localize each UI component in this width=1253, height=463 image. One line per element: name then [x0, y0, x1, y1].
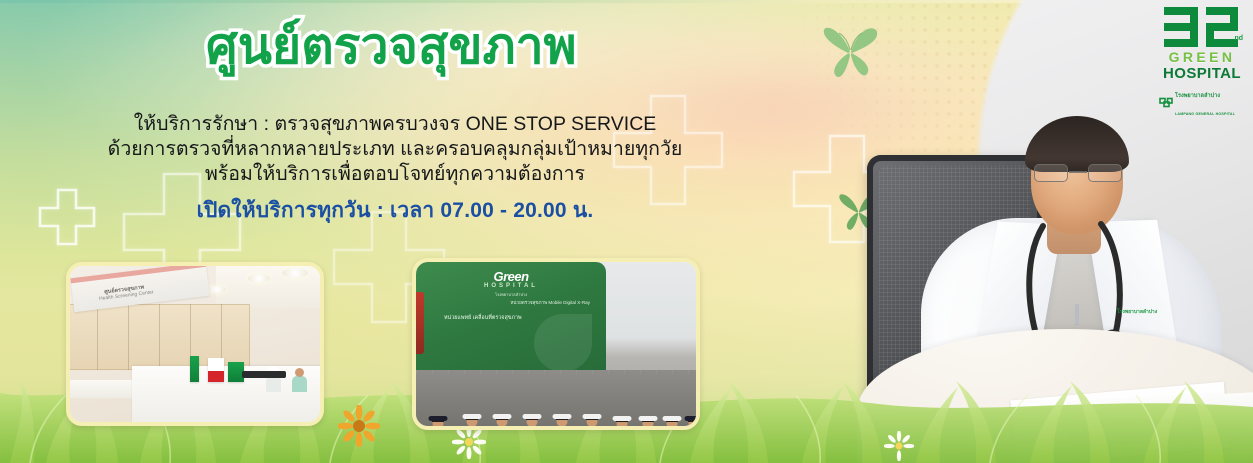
medical-staff-team-photo: Green HOSPITAL โรงพยาบาลลำปาง หน่วยแพทย์… [412, 258, 700, 430]
logo-32nd-mark: nd [1159, 4, 1245, 50]
bus-logo-word: Green [472, 270, 550, 283]
logo-word-green: GREEN [1159, 50, 1245, 65]
body-copy: ให้บริการรักษา : ตรวจสุขภาพครบวงจร ONE S… [0, 112, 790, 227]
person-shoes [429, 416, 448, 421]
white-daisy-flower-icon [884, 431, 914, 461]
mobile-health-bus: Green HOSPITAL โรงพยาบาลลำปาง หน่วยแพทย์… [416, 262, 606, 374]
monitor-stand [242, 371, 286, 378]
ceiling-light [282, 268, 308, 278]
copy-line-3: พร้อมให้บริการเพื่อตอบโจทย์ทุกความต้องกา… [0, 162, 790, 187]
person-shoes [613, 416, 632, 421]
bus-thai-text-right: หน่วยตรวจสุขภาพ Mobile Digital X-Ray [510, 300, 590, 306]
bus-swirl-graphic [534, 314, 592, 372]
health-screening-center-banner: โรงพยาบาลลำปาง [0, 0, 1253, 463]
health-screening-center-reception-photo: ศูนย์ตรวจสุขภาพ Health Screening Center [66, 262, 324, 426]
person-shoes [463, 414, 482, 419]
person-shoes [583, 414, 602, 419]
eyeglasses [1033, 164, 1123, 182]
logo-sub-lockup: โรงพยาบาลลำปาง LAMPANG GENERAL HOSPITAL [1159, 84, 1245, 120]
interlocking-squares-mark-icon [1159, 96, 1173, 108]
bus-red-stripe [416, 292, 424, 354]
page-title: ศูนย์ตรวจสุขภาพ [206, 16, 577, 76]
person-shoes [493, 414, 512, 419]
staff-body [266, 376, 281, 392]
eyeglass-bridge [1069, 171, 1087, 173]
logo-sub-text: โรงพยาบาลลำปาง LAMPANG GENERAL HOSPITAL [1175, 84, 1245, 120]
team-photo-content: Green HOSPITAL โรงพยาบาลลำปาง หน่วยแพทย์… [416, 262, 696, 426]
bus-logo-org: โรงพยาบาลลำปาง [472, 291, 550, 298]
ceiling-light [248, 274, 270, 283]
no-smoking-standee [208, 358, 224, 382]
staff-body [292, 376, 307, 392]
bus-thai-text-left: หน่วยแพทย์ เคลื่อนที่ตรวจสุขภาพ [444, 314, 522, 322]
copy-line-1: ให้บริการรักษา : ตรวจสุขภาพครบวงจร ONE S… [0, 112, 790, 137]
person-shoes [639, 416, 658, 421]
copy-line-2: ด้วยการตรวจที่หลากหลายประเภท และครอบคลุม… [0, 137, 790, 162]
person-shoes [685, 416, 697, 421]
coat-badge-text: โรงพยาบาลลำปาง [1117, 308, 1169, 316]
reception-staff [292, 368, 307, 392]
green-hospital-logo: nd GREEN HOSPITAL โรงพยาบาลลำปาง LAMPANG… [1159, 4, 1245, 120]
logo-sub-thai: โรงพยาบาลลำปาง [1175, 93, 1220, 99]
bus-green-hospital-logo: Green HOSPITAL โรงพยาบาลลำปาง [472, 270, 550, 298]
opening-hours-text: เปิดให้บริการทุกวัน : เวลา 07.00 - 20.00… [0, 194, 790, 227]
logo-ordinal-suffix: nd [1234, 35, 1243, 42]
eyeglass-lens-right [1088, 164, 1122, 182]
person-shoes [523, 414, 542, 419]
person-shoes [663, 416, 682, 421]
person-shoes [553, 414, 572, 419]
ceiling-light [208, 286, 226, 293]
reception-photo-content: ศูนย์ตรวจสุขภาพ Health Screening Center [70, 266, 320, 422]
bus-logo-sub: HOSPITAL [472, 283, 550, 289]
white-daisy-flower-icon [452, 425, 486, 459]
eyeglass-lens-left [1034, 164, 1068, 182]
logo-sub-english: LAMPANG GENERAL HOSPITAL [1175, 112, 1235, 116]
orange-daisy-flower-icon [338, 405, 380, 447]
green-marker-standee [190, 356, 199, 382]
logo-word-hospital: HOSPITAL [1159, 65, 1245, 82]
staff-head [295, 368, 304, 377]
